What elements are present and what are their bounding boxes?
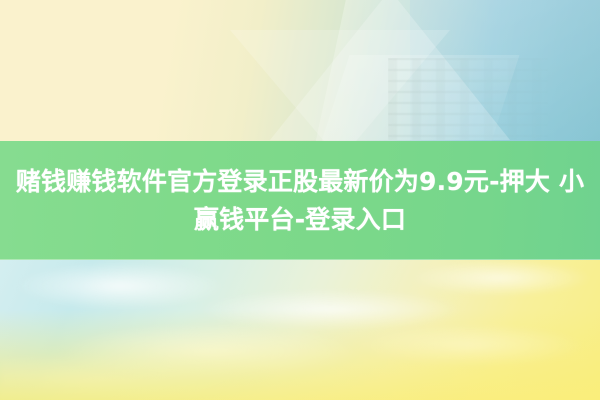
facet-triangle-down-icon (230, 30, 450, 141)
facet-sheen-icon (311, 55, 520, 141)
facet-panel-right-icon (410, 0, 600, 141)
promo-banner: 赌钱赚钱软件官方登录正股最新价为9.9元-押大 小赢钱平台-登录入口 (0, 0, 600, 400)
top-decorative-section (0, 0, 600, 141)
banner-title-line-1: 赌钱赚钱软件官方登录正股最新价为9.9元-押大 (16, 167, 550, 196)
bottom-decorative-section (0, 260, 600, 400)
facet-triangle-up-icon (270, 0, 510, 140)
facet-panel-diagonal-icon (306, 0, 600, 141)
banner-title: 赌钱赚钱软件官方登录正股最新价为9.9元-押大 小赢钱平台-登录入口 (0, 163, 600, 239)
title-band: 赌钱赚钱软件官方登录正股最新价为9.9元-押大 小赢钱平台-登录入口 (0, 141, 600, 260)
watermark-number-grid-icon (388, 58, 548, 140)
